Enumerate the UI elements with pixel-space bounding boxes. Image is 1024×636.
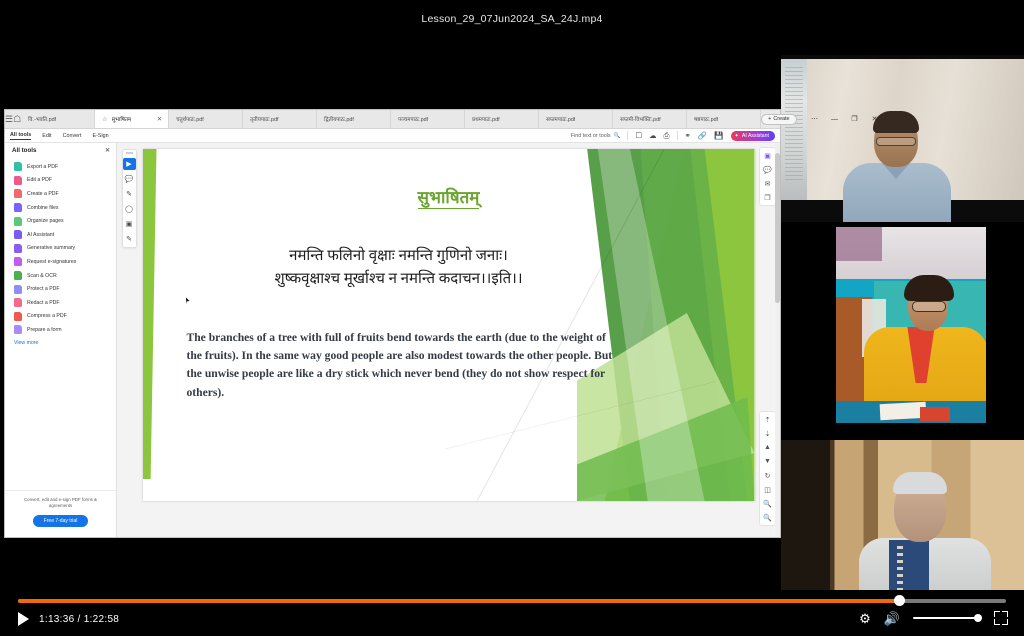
document-heading: सुभाषितम् <box>143 185 755 208</box>
sanskrit-verse: नमन्ति फलिनो वृक्षाः नमन्ति गुणिनो जनाः।… <box>199 245 599 292</box>
tool-request-e-signatures[interactable]: Request e-signatures <box>5 255 116 269</box>
more-options-icon[interactable]: ⋯ <box>805 115 825 123</box>
combine-files-icon <box>14 203 22 212</box>
participant-video-2 <box>781 222 1024 440</box>
tool-scan-and-ocr[interactable]: Scan & OCR <box>5 269 116 283</box>
page-up-icon[interactable]: ⇡ <box>761 414 774 425</box>
maximize-button[interactable]: ❐ <box>845 115 865 123</box>
cam2-book <box>920 407 950 421</box>
gear-icon[interactable]: ⚙ <box>859 612 871 625</box>
player-right-controls: ⚙ 🔊 <box>859 611 1008 625</box>
cam3-hair <box>893 472 947 494</box>
tool-prepare-a-form[interactable]: Prepare a form <box>5 323 116 337</box>
generative-summary-icon <box>14 244 22 253</box>
free-trial-button[interactable]: Free 7-day trial <box>33 515 89 527</box>
document-tab[interactable]: सप्तमी-विभक्तिः.pdf <box>613 110 687 128</box>
comment-bubble-icon[interactable]: 💬 <box>761 164 774 175</box>
video-controls: 1:13:36 / 1:22:58 ⚙ 🔊 <box>0 590 1024 636</box>
document-tab[interactable]: द्वितीयपाठः.pdf <box>317 110 391 128</box>
scan-ocr-icon <box>14 271 22 280</box>
view-more-link[interactable]: View more <box>5 337 116 346</box>
progress-bar-fill <box>18 599 899 603</box>
link-icon[interactable]: 🔗 <box>698 131 707 140</box>
tool-protect-a-pdf[interactable]: Protect a PDF <box>5 282 116 296</box>
exit-fullscreen-icon[interactable] <box>994 611 1008 625</box>
cam1-wall-chart <box>781 59 807 200</box>
redact-pdf-icon <box>14 298 22 307</box>
right-toolbar: ▣ 💬 ✉ ❐ ⇡ ⇣ ▲ ▼ ↻ ◫ 🔍 🔍 <box>756 143 780 537</box>
tool-compress-a-pdf[interactable]: Compress a PDF <box>5 310 116 324</box>
star-icon[interactable]: ☆ <box>102 116 107 123</box>
close-icon[interactable]: ✕ <box>105 147 110 154</box>
highlight-pen-icon[interactable]: ✎ <box>123 188 136 200</box>
export-pdf-icon <box>14 162 22 171</box>
print-icon[interactable]: ⎙ <box>664 131 670 141</box>
right-tools-bottom: ⇡ ⇣ ▲ ▼ ↻ ◫ 🔍 🔍 <box>759 411 776 526</box>
all-tools-title: All tools <box>12 147 36 154</box>
find-input[interactable]: Find text or tools 🔍 <box>571 133 621 139</box>
progress-bar[interactable] <box>18 599 1006 603</box>
tool-generative-summary[interactable]: Generative summary <box>5 242 116 256</box>
cam3-dark-area <box>781 440 830 595</box>
create-pdf-icon <box>14 189 22 198</box>
compress-pdf-icon <box>14 312 22 321</box>
request-esignatures-icon <box>14 257 22 266</box>
all-tools-list: Export a PDF Edit a PDF Create a PDF Com… <box>5 157 116 490</box>
trial-promo: Convert, edit and e-sign PDF forms & agr… <box>5 490 116 537</box>
player-left-controls: 1:13:36 / 1:22:58 <box>18 612 119 626</box>
english-translation: The branches of a tree with full of frui… <box>187 329 617 402</box>
divider <box>627 131 628 140</box>
comment-icon[interactable]: 💬 <box>123 173 136 185</box>
close-window-button[interactable]: ✕ <box>865 115 885 123</box>
tool-redact-a-pdf[interactable]: Redact a PDF <box>5 296 116 310</box>
volume-icon[interactable]: 🔊 <box>884 612 900 625</box>
video-player-fullscreen: Lesson_29_07Jun2024_SA_24J.mp4 <box>0 0 1024 636</box>
rotate-icon[interactable]: ↻ <box>761 470 774 481</box>
video-title: Lesson_29_07Jun2024_SA_24J.mp4 <box>0 13 1024 25</box>
cam2-glasses <box>912 301 946 312</box>
erase-icon[interactable]: ◯ <box>123 203 136 215</box>
document-tab[interactable]: वि.-भवति.pdf <box>21 110 95 128</box>
verse-line-2: शुष्कवृक्षाश्च मूर्खाश्च न नमन्ति कदाचन।… <box>199 268 599 291</box>
all-tools-panel: All tools ✕ Export a PDF Edit a PDF Crea… <box>5 143 117 537</box>
prepare-form-icon <box>14 325 22 334</box>
acrobat-body: All tools ✕ Export a PDF Edit a PDF Crea… <box>5 143 780 537</box>
menu-all-tools[interactable]: All tools <box>10 132 31 140</box>
ai-assistant-icon <box>14 230 22 239</box>
fit-page-icon[interactable]: ◫ <box>761 484 774 495</box>
cam3-vest <box>889 540 929 595</box>
right-tools-top: ▣ 💬 ✉ ❐ <box>759 147 776 206</box>
menu-convert[interactable]: Convert <box>63 133 82 139</box>
cloud-upload-icon[interactable]: ☁ <box>649 131 657 140</box>
cam2-hair <box>904 275 954 301</box>
tool-edit-a-pdf[interactable]: Edit a PDF <box>5 174 116 188</box>
tool-organize-pages[interactable]: Organize pages <box>5 214 116 228</box>
sticky-note-icon[interactable]: ✉ <box>761 178 774 189</box>
save-icon[interactable]: 💾 <box>714 131 723 140</box>
menu-edit[interactable]: Edit <box>42 133 51 139</box>
annotation-tool-card: ▶ 💬 ✎ ◯ ▣ ✎ <box>122 149 137 248</box>
page-thumbnails-icon[interactable]: ☐ <box>635 131 642 140</box>
tab-bar: ☰ ☖ वि.-भवति.pdf ☆ सुभाषितम् ✕ चतुर्थपाठ… <box>5 110 780 129</box>
zoom-in-icon[interactable]: 🔍 <box>761 512 774 523</box>
ai-sparkle-icon: ✦ <box>735 133 739 139</box>
menu-bar-right: Find text or tools 🔍 ☐ ☁ ⎙ ⚭ 🔗 💾 ✦ AI As… <box>571 131 780 141</box>
time-display: 1:13:36 / 1:22:58 <box>39 614 119 625</box>
tool-create-a-pdf[interactable]: Create a PDF <box>5 187 116 201</box>
menu-bar: All tools Edit Convert E-Sign Find text … <box>5 129 780 143</box>
close-tab-icon[interactable]: ✕ <box>149 115 162 123</box>
cam2-ceiling-accent <box>836 227 882 261</box>
play-icon[interactable] <box>18 612 29 626</box>
share-icon[interactable]: ⚭ <box>685 131 691 140</box>
participant-video-3 <box>781 440 1024 595</box>
signature-icon[interactable]: ✎ <box>123 233 136 245</box>
document-tab[interactable]: चतुर्थपाठः.pdf <box>169 110 243 128</box>
plus-icon: + <box>768 116 771 122</box>
find-placeholder: Find text or tools <box>571 133 611 139</box>
document-tab-active[interactable]: ☆ सुभाषितम् ✕ <box>95 110 169 128</box>
acrobat-window: ☰ ☖ वि.-भवति.pdf ☆ सुभाषितम् ✕ चतुर्थपाठ… <box>5 110 780 537</box>
mouse-cursor <box>186 297 190 304</box>
pdf-viewer: ▶ 💬 ✎ ◯ ▣ ✎ <box>117 143 780 537</box>
zoom-out-icon[interactable]: 🔍 <box>761 498 774 509</box>
volume-slider-handle[interactable] <box>974 614 982 622</box>
scroll-up-icon[interactable]: ▲ <box>761 442 774 453</box>
document-tab[interactable]: षष्ठपाठः.pdf <box>687 110 761 128</box>
annotation-toolbar: ▶ 💬 ✎ ◯ ▣ ✎ <box>117 143 141 537</box>
scrollbar-thumb[interactable] <box>775 153 780 303</box>
progress-bar-handle[interactable] <box>894 595 905 606</box>
edit-pdf-icon <box>14 176 22 185</box>
tool-combine-files[interactable]: Combine files <box>5 201 116 215</box>
participant-video-1 <box>781 55 1024 222</box>
home-icon[interactable]: ☖ <box>13 110 21 128</box>
promo-text: Convert, edit and e-sign PDF forms & agr… <box>13 497 108 510</box>
document-tab[interactable]: पञ्चमपाठः.pdf <box>391 110 465 128</box>
document-tab[interactable]: तृतीयपाठः.pdf <box>243 110 317 128</box>
cam2-frame <box>836 227 986 423</box>
create-button[interactable]: + Create <box>761 114 796 125</box>
divider <box>677 131 678 140</box>
copy-icon[interactable]: ❐ <box>761 192 774 203</box>
verse-line-1: नमन्ति फलिनो वृक्षाः नमन्ति गुणिनो जनाः। <box>199 245 599 268</box>
search-icon[interactable]: 🔍 <box>614 133 621 139</box>
document-tab[interactable]: सप्तमपाठः.pdf <box>539 110 613 128</box>
tool-export-a-pdf[interactable]: Export a PDF <box>5 160 116 174</box>
cam1-glasses <box>876 137 916 146</box>
select-cursor-icon[interactable]: ▶ <box>123 158 136 170</box>
menu-esign[interactable]: E-Sign <box>92 133 108 139</box>
page-down-icon[interactable]: ⇣ <box>761 428 774 439</box>
scroll-down-icon[interactable]: ▼ <box>761 456 774 467</box>
all-tools-header: All tools ✕ <box>5 143 116 157</box>
volume-slider[interactable] <box>913 617 981 620</box>
page-container: सुभाषितम् नमन्ति फलिनो वृक्षाः नमन्ति गु… <box>141 143 756 537</box>
organize-pages-icon <box>14 217 22 226</box>
drag-handle[interactable] <box>126 152 133 154</box>
tool-ai-assistant[interactable]: AI Assistant <box>5 228 116 242</box>
ai-assistant-icon[interactable]: ▣ <box>761 150 774 161</box>
pdf-page[interactable]: सुभाषितम् नमन्ति फलिनो वृक्षाः नमन्ति गु… <box>143 149 755 501</box>
ai-assistant-button[interactable]: ✦ AI Assistant <box>731 131 775 141</box>
vertical-scrollbar[interactable] <box>775 143 780 537</box>
window-controls: + Create ⋯ — ❐ ✕ <box>761 110 886 128</box>
stamp-icon[interactable]: ▣ <box>123 218 136 230</box>
minimize-button[interactable]: — <box>825 116 845 123</box>
document-tab[interactable]: प्रथमपाठः.pdf <box>465 110 539 128</box>
hamburger-icon[interactable]: ☰ <box>5 110 13 128</box>
protect-pdf-icon <box>14 285 22 294</box>
